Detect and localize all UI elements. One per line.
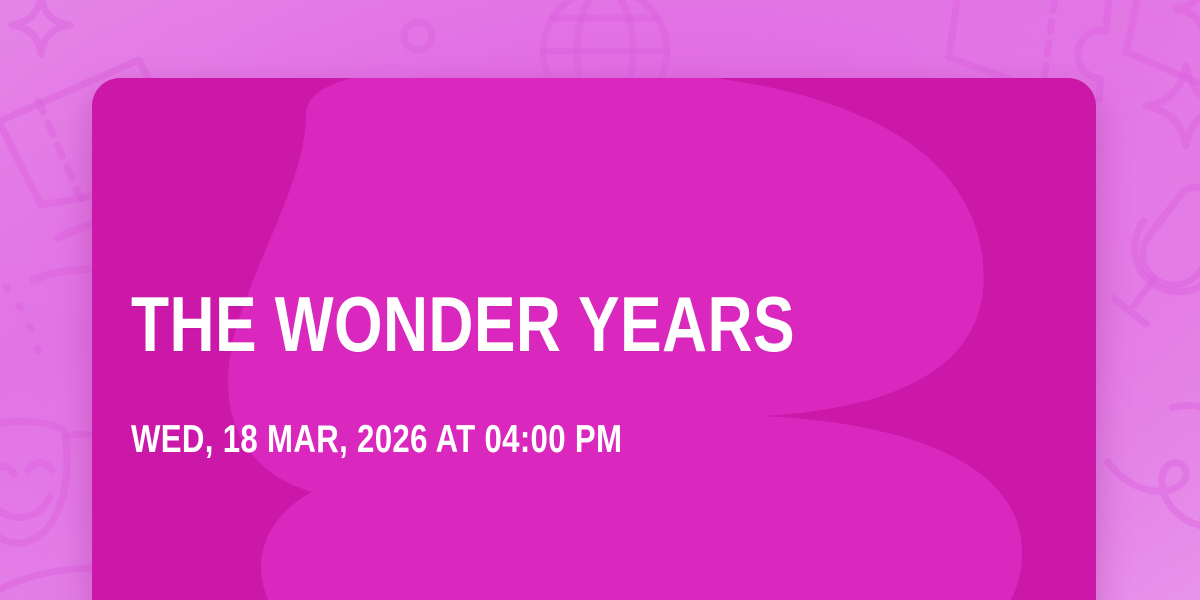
event-title: THE WONDER YEARS [131,284,795,364]
event-datetime: WED, 18 MAR, 2026 AT 04:00 PM [131,419,622,461]
event-card[interactable]: THE WONDER YEARS WED, 18 MAR, 2026 AT 04… [92,78,1096,600]
event-card-stage: THE WONDER YEARS WED, 18 MAR, 2026 AT 04… [0,0,1200,600]
card-content: THE WONDER YEARS WED, 18 MAR, 2026 AT 04… [131,78,1031,600]
